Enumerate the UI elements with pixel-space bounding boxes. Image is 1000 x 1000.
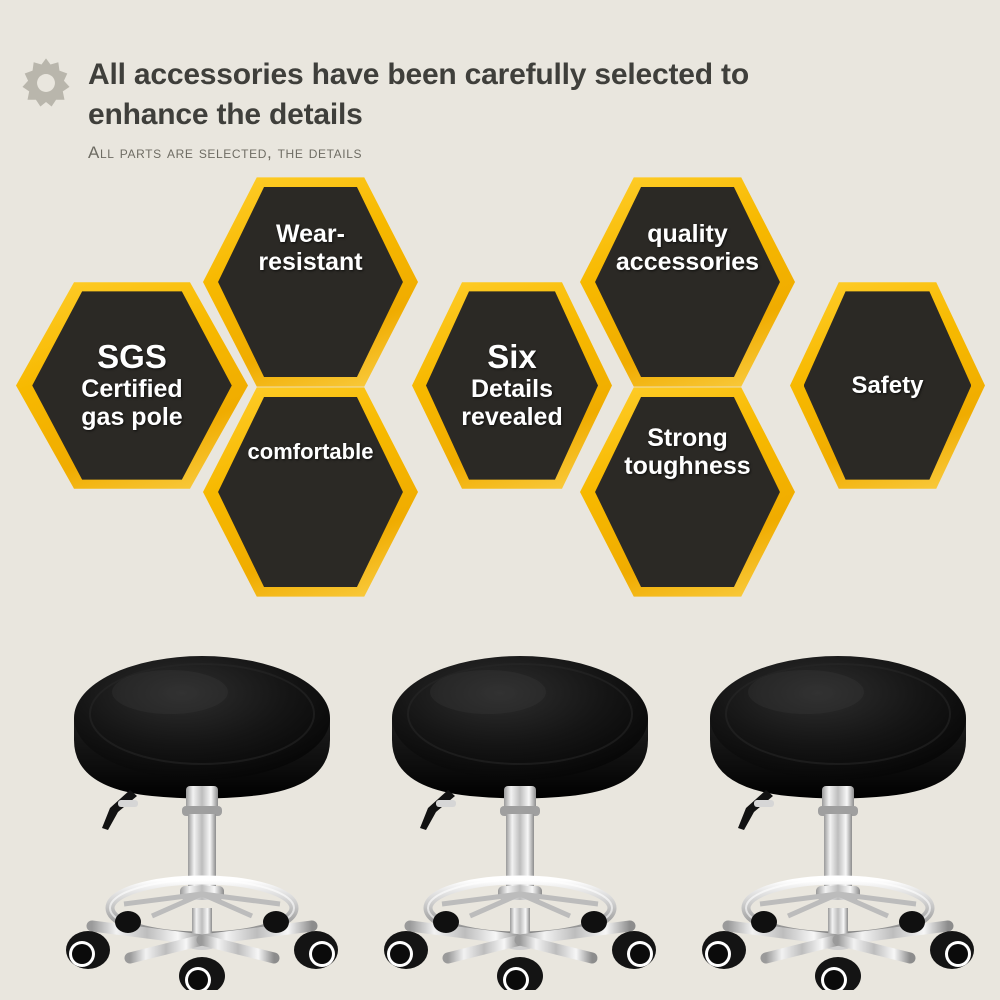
hex-cell-quality-accessories[interactable]: quality accessories xyxy=(580,173,795,391)
hex-label-comfortable: comfortable xyxy=(218,439,403,464)
hex-inner-center: Six Details revealed xyxy=(426,291,598,479)
product-photo-row xyxy=(0,610,1000,1000)
hex-inner-strong: Strong toughness xyxy=(595,397,780,588)
hex-inner-wear-resistant: Wear- resistant xyxy=(218,187,403,378)
hex-label-center-line3: revealed xyxy=(432,403,592,431)
product-image-stool-1 xyxy=(52,620,352,990)
product-image-stool-3 xyxy=(688,620,988,990)
page-subtitle: All parts are selected, the details xyxy=(88,143,968,163)
hex-cell-safety[interactable]: Safety xyxy=(790,278,985,493)
hex-label-safety: Safety xyxy=(804,372,972,400)
hex-label-sgs: SGS Certified gas pole xyxy=(32,340,232,431)
hex-label-wear-line1: Wear- xyxy=(224,220,397,248)
hex-label-quality-line2: accessories xyxy=(601,248,774,276)
hex-label-quality: quality accessories xyxy=(595,220,780,276)
header-section: All accessories have been carefully sele… xyxy=(0,0,1000,180)
hex-label-strong-line2: toughness xyxy=(601,452,774,480)
header-text-block: All accessories have been carefully sele… xyxy=(88,55,968,163)
hex-label-center-big: Six xyxy=(432,340,592,375)
hex-label-sgs-line2: Certified xyxy=(38,375,226,403)
hex-cell-comfortable[interactable]: comfortable xyxy=(203,383,418,601)
hex-cell-strong-toughness[interactable]: Strong toughness xyxy=(580,383,795,601)
hex-label-wear-line2: resistant xyxy=(224,248,397,276)
hex-label-strong-line1: Strong xyxy=(601,424,774,452)
page-title: All accessories have been carefully sele… xyxy=(88,55,828,135)
hex-label-center-line2: Details xyxy=(432,375,592,403)
hex-label-quality-line1: quality xyxy=(601,220,774,248)
hex-inner-safety: Safety xyxy=(804,291,972,479)
product-image-stool-2 xyxy=(370,620,670,990)
hex-label-strong: Strong toughness xyxy=(595,424,780,480)
hex-inner-sgs: SGS Certified gas pole xyxy=(32,291,232,479)
hex-inner-comfortable: comfortable xyxy=(218,397,403,588)
hex-cell-wear-resistant[interactable]: Wear- resistant xyxy=(203,173,418,391)
infographic-page: All accessories have been carefully sele… xyxy=(0,0,1000,1000)
hex-inner-quality: quality accessories xyxy=(595,187,780,378)
hex-label-center: Six Details revealed xyxy=(426,340,598,431)
hex-cell-center-six-details[interactable]: Six Details revealed xyxy=(412,278,612,493)
hex-cell-sgs[interactable]: SGS Certified gas pole xyxy=(16,278,248,493)
hex-label-sgs-line3: gas pole xyxy=(38,403,226,431)
hex-label-wear-resistant: Wear- resistant xyxy=(218,220,403,276)
gear-icon xyxy=(18,55,74,111)
honeycomb-diagram: SGS Certified gas pole Wear- resistant c… xyxy=(0,170,1000,600)
hex-label-sgs-line1: SGS xyxy=(38,340,226,375)
